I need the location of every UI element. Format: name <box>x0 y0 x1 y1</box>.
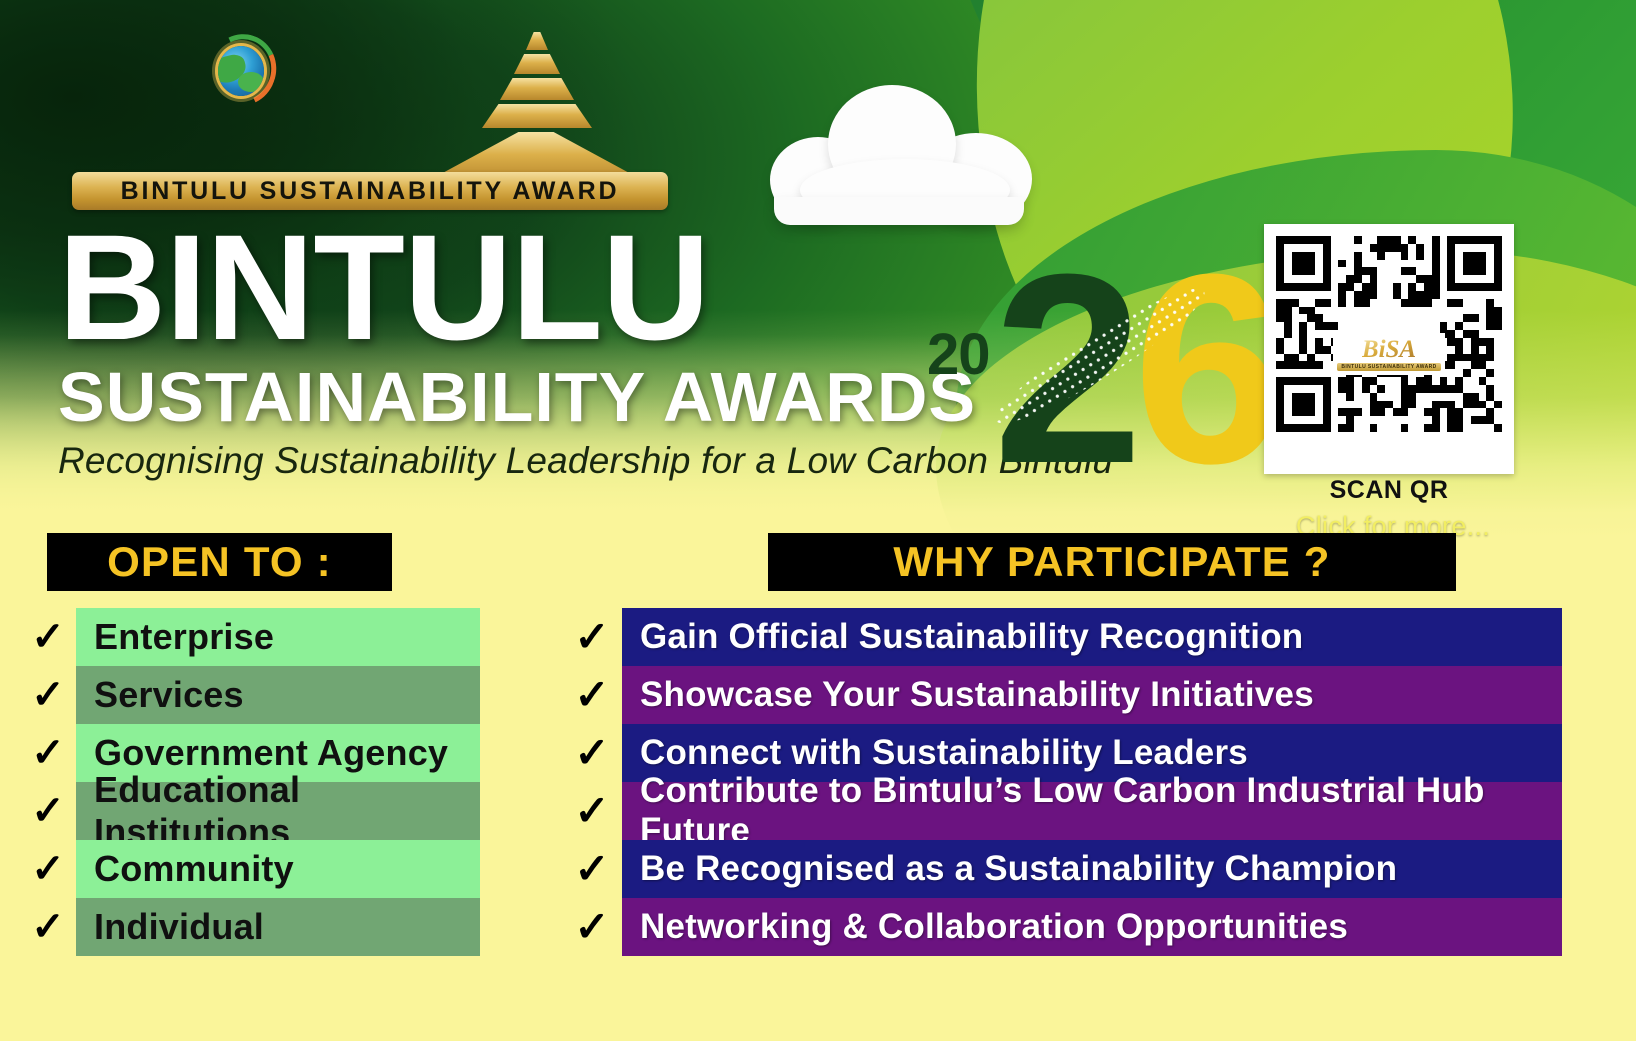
list-item-label: Gain Official Sustainability Recognition <box>622 608 1562 666</box>
logo-ribbon-text: BINTULU SUSTAINABILITY AWARD <box>121 177 620 206</box>
check-icon: ✓ <box>562 898 622 956</box>
year-digit-two: 2 <box>993 235 1143 505</box>
year-badge: 6 2 20 <box>915 243 1215 503</box>
qr-block[interactable]: BiSA BINTULU SUSTAINABILITY AWARD SCAN Q… <box>1264 224 1526 524</box>
list-item: ✓Gain Official Sustainability Recognitio… <box>562 608 1562 666</box>
list-item-label: Be Recognised as a Sustainability Champi… <box>622 840 1562 898</box>
qr-code[interactable]: BiSA BINTULU SUSTAINABILITY AWARD <box>1264 224 1514 474</box>
section-header-why-participate: WHY PARTICIPATE ? <box>768 533 1456 591</box>
check-icon: ✓ <box>562 782 622 840</box>
list-item-label: Individual <box>76 898 480 956</box>
list-item-label: Showcase Your Sustainability Initiatives <box>622 666 1562 724</box>
list-item: ✓Services <box>20 666 480 724</box>
poster-canvas: B i S BINTULU SUSTAINABILITY AWARD BINTU… <box>0 0 1636 1041</box>
check-icon: ✓ <box>562 724 622 782</box>
qr-logo-mark: BiSA <box>1362 337 1416 362</box>
open-to-list: ✓Enterprise✓Services✓Government Agency✓E… <box>20 608 480 956</box>
qr-caption: SCAN QR <box>1264 476 1514 505</box>
section-header-why-participate-label: WHY PARTICIPATE ? <box>893 538 1330 586</box>
why-participate-list: ✓Gain Official Sustainability Recognitio… <box>562 608 1562 956</box>
list-item: ✓Networking & Collaboration Opportunitie… <box>562 898 1562 956</box>
list-item: ✓Be Recognised as a Sustainability Champ… <box>562 840 1562 898</box>
qr-logo-subtext: BINTULU SUSTAINABILITY AWARD <box>1337 363 1440 371</box>
list-item: ✓Community <box>20 840 480 898</box>
logo-lettermark: B i S <box>66 24 666 172</box>
globe-icon <box>218 46 264 96</box>
check-icon: ✓ <box>20 608 76 666</box>
year-prefix: 20 <box>927 321 990 388</box>
section-header-open-to: OPEN TO : <box>47 533 392 591</box>
list-item-label: Enterprise <box>76 608 480 666</box>
check-icon: ✓ <box>20 724 76 782</box>
check-icon: ✓ <box>562 840 622 898</box>
list-item: ✓Showcase Your Sustainability Initiative… <box>562 666 1562 724</box>
list-item-label: Educational Institutions <box>76 782 480 840</box>
section-header-open-to-label: OPEN TO : <box>107 538 332 586</box>
check-icon: ✓ <box>562 666 622 724</box>
year-digit-six: 6 <box>1133 235 1283 505</box>
check-icon: ✓ <box>562 608 622 666</box>
list-item-label: Networking & Collaboration Opportunities <box>622 898 1562 956</box>
list-item-label: Services <box>76 666 480 724</box>
list-item-label: Community <box>76 840 480 898</box>
check-icon: ✓ <box>20 666 76 724</box>
cloud-icon <box>770 85 1040 220</box>
check-icon: ✓ <box>20 898 76 956</box>
check-icon: ✓ <box>20 840 76 898</box>
tower-icon <box>426 32 646 182</box>
list-item: ✓Contribute to Bintulu’s Low Carbon Indu… <box>562 782 1562 840</box>
list-item-label: Contribute to Bintulu’s Low Carbon Indus… <box>622 782 1562 840</box>
check-icon: ✓ <box>20 782 76 840</box>
list-item: ✓Individual <box>20 898 480 956</box>
bisa-logo[interactable]: B i S BINTULU SUSTAINABILITY AWARD <box>66 24 666 214</box>
qr-embedded-logo: BiSA BINTULU SUSTAINABILITY AWARD <box>1333 333 1445 375</box>
list-item: ✓Educational Institutions <box>20 782 480 840</box>
list-item: ✓Enterprise <box>20 608 480 666</box>
